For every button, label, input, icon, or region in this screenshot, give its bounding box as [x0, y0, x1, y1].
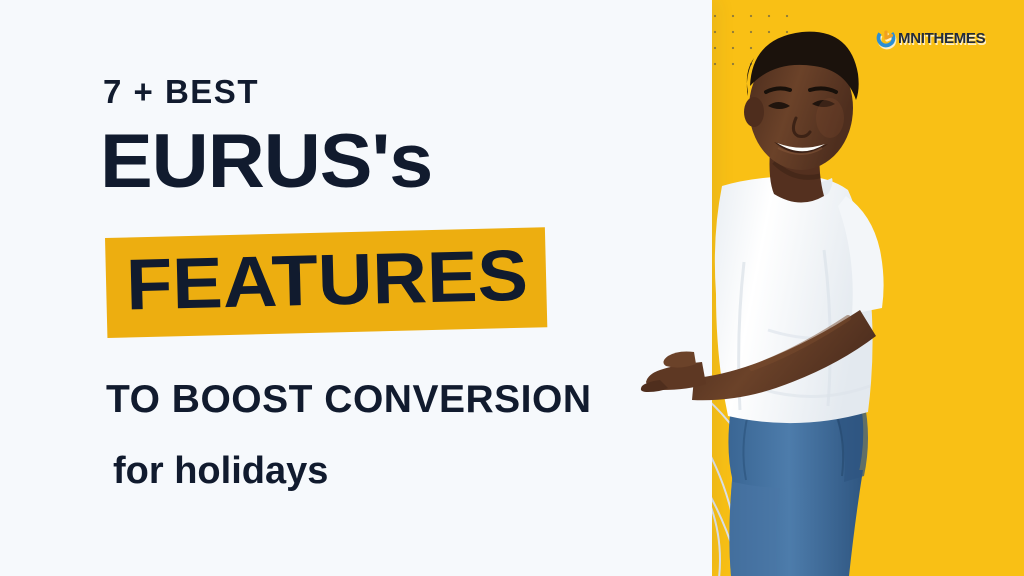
page-title: EURUS's — [100, 124, 432, 200]
highlight-text: FEATURES — [125, 240, 528, 322]
promo-banner: 7 + BEST EURUS's FEATURES TO BOOST CONVE… — [0, 0, 1024, 576]
background-yellow-panel — [707, 0, 1024, 576]
brand-logo[interactable]: MNITHEMES — [876, 28, 985, 48]
highlight-band: FEATURES — [105, 227, 547, 338]
headline-group: 7 + BEST EURUS's FEATURES TO BOOST CONVE… — [0, 0, 660, 576]
brand-logo-text: MNITHEMES — [898, 31, 985, 46]
omni-circle-icon — [876, 28, 896, 48]
dot-grid-right — [707, 8, 793, 70]
subheadline-text: TO BOOST CONVERSION — [106, 378, 592, 422]
tagline-text: for holidays — [113, 450, 328, 493]
eyebrow-text: 7 + BEST — [103, 73, 259, 111]
